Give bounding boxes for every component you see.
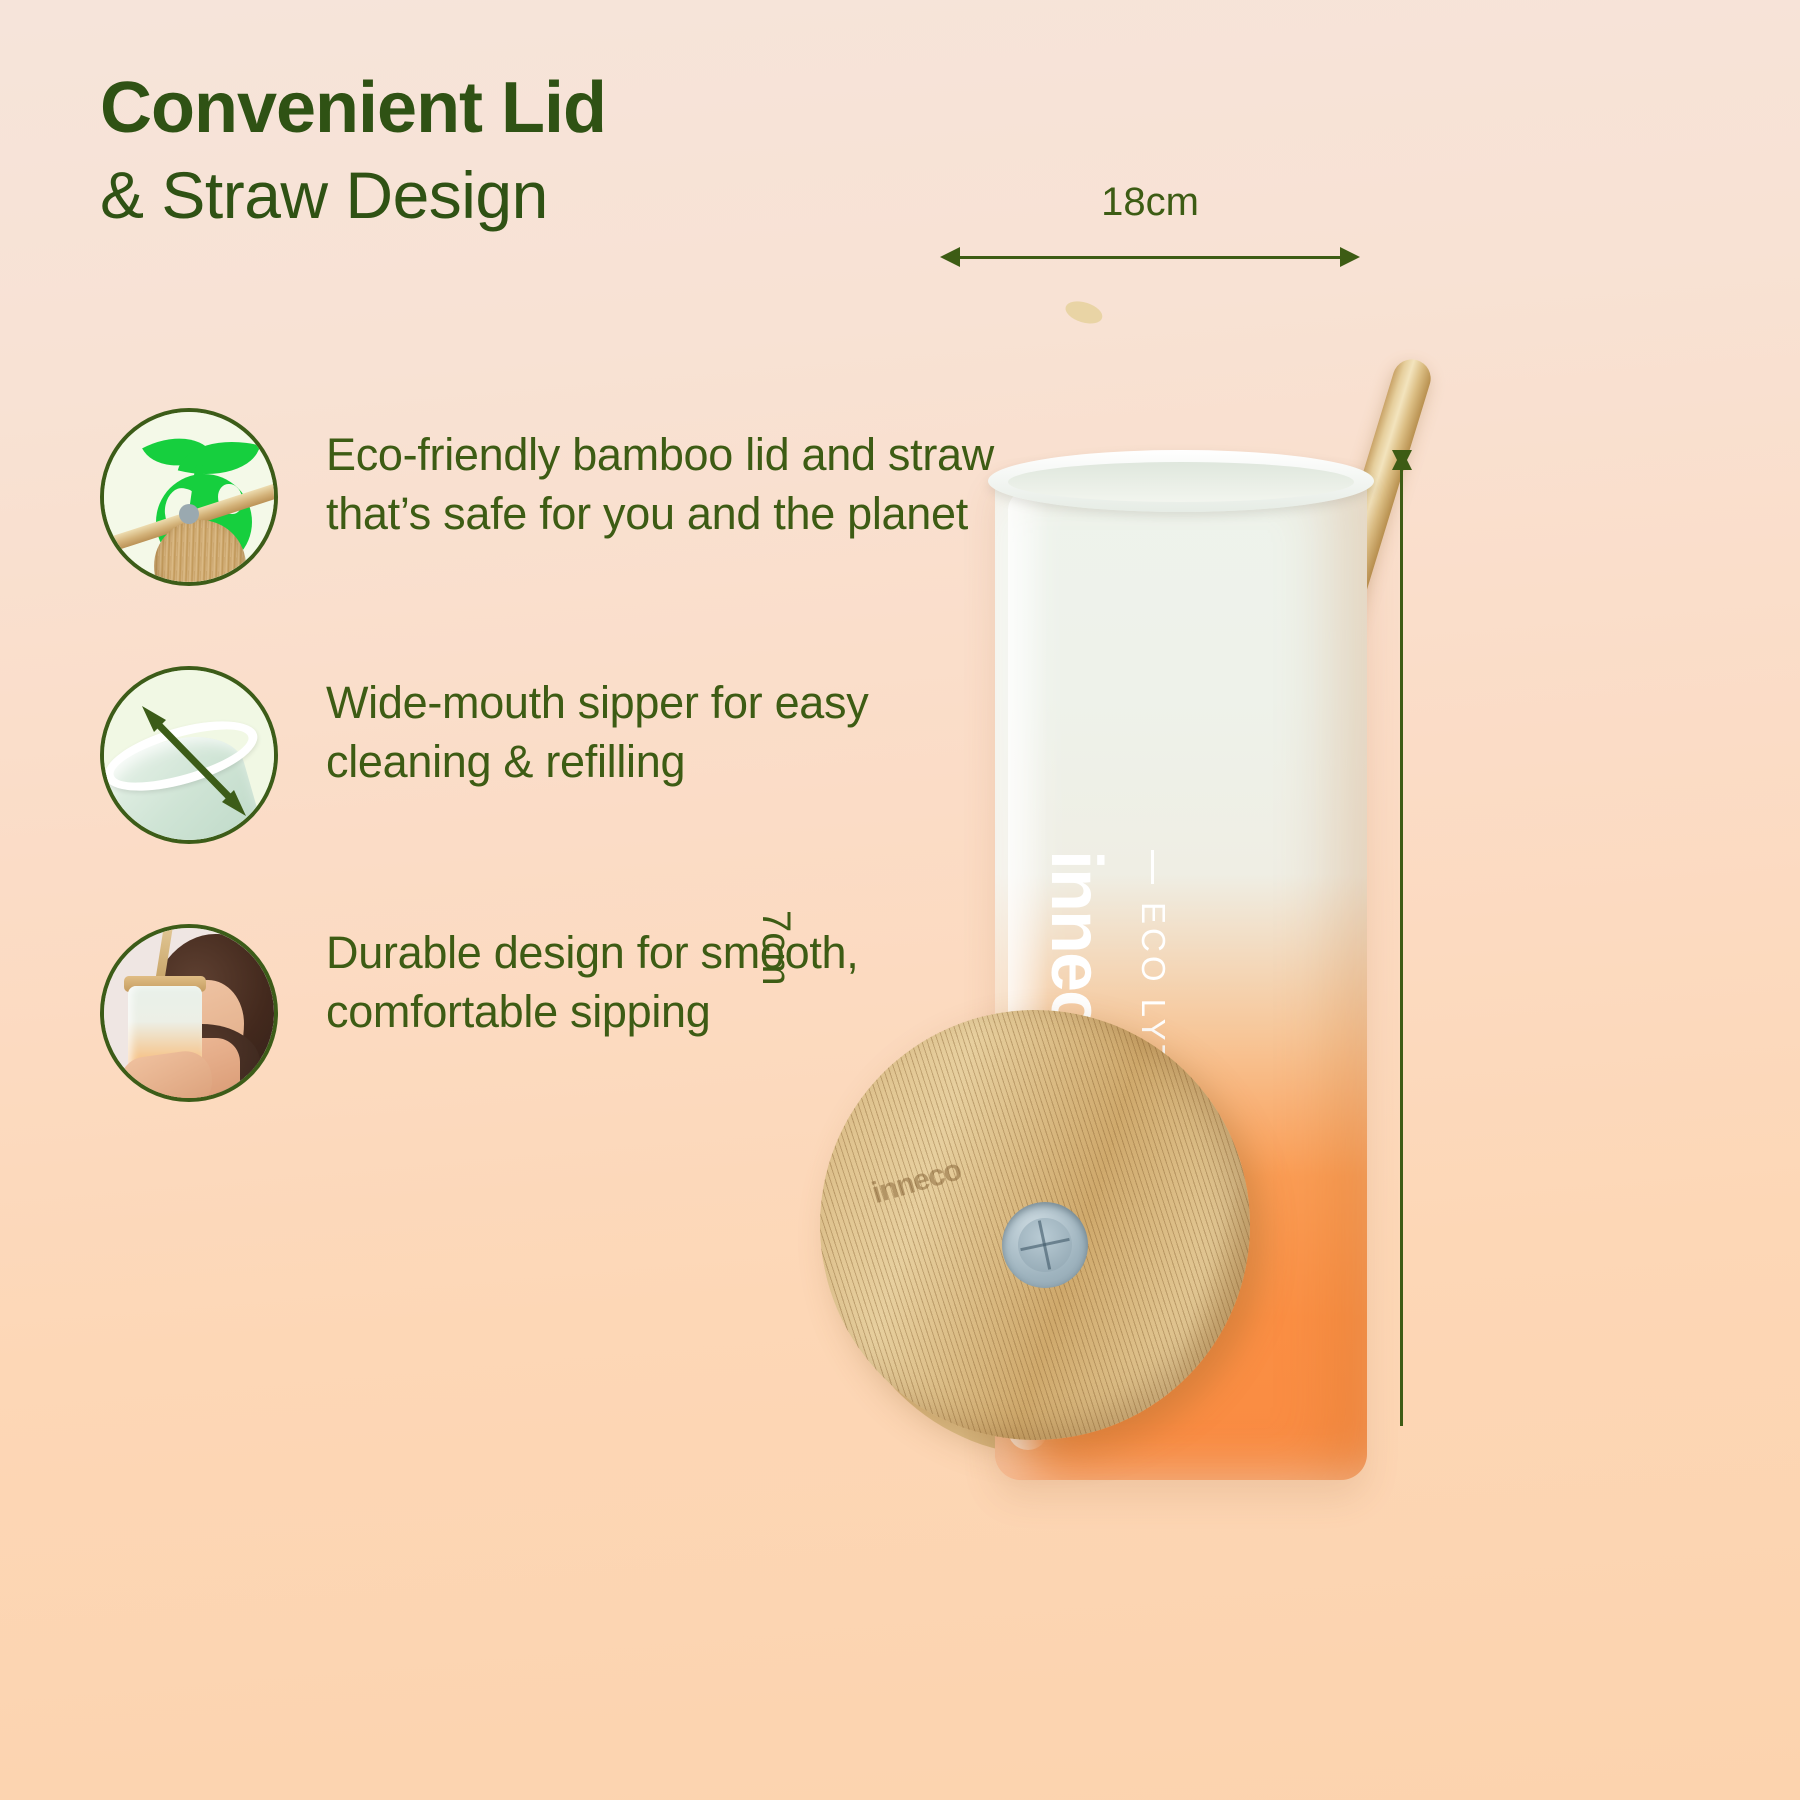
width-dimension: 18cm: [940, 180, 1360, 267]
bamboo-straw-tip: [1063, 297, 1105, 327]
eco-globe-bamboo-icon: [100, 408, 278, 586]
height-dimension: [1390, 450, 1414, 1440]
width-dimension-label: 18cm: [940, 180, 1360, 225]
page-title: Convenient Lid: [100, 72, 1000, 144]
wide-mouth-arrow-icon: [100, 666, 278, 844]
product-image-area: 18cm inneco ™ ECO LYTE inneco 7cm: [740, 150, 1800, 1800]
tumbler-rim-inner: [1008, 462, 1354, 502]
divider: [1152, 850, 1155, 884]
width-dimension-arrow: [940, 247, 1360, 267]
height-dimension-label: 7cm: [753, 910, 798, 986]
lifestyle-durable-icon: [100, 924, 278, 1102]
double-arrow-icon: [104, 670, 278, 844]
